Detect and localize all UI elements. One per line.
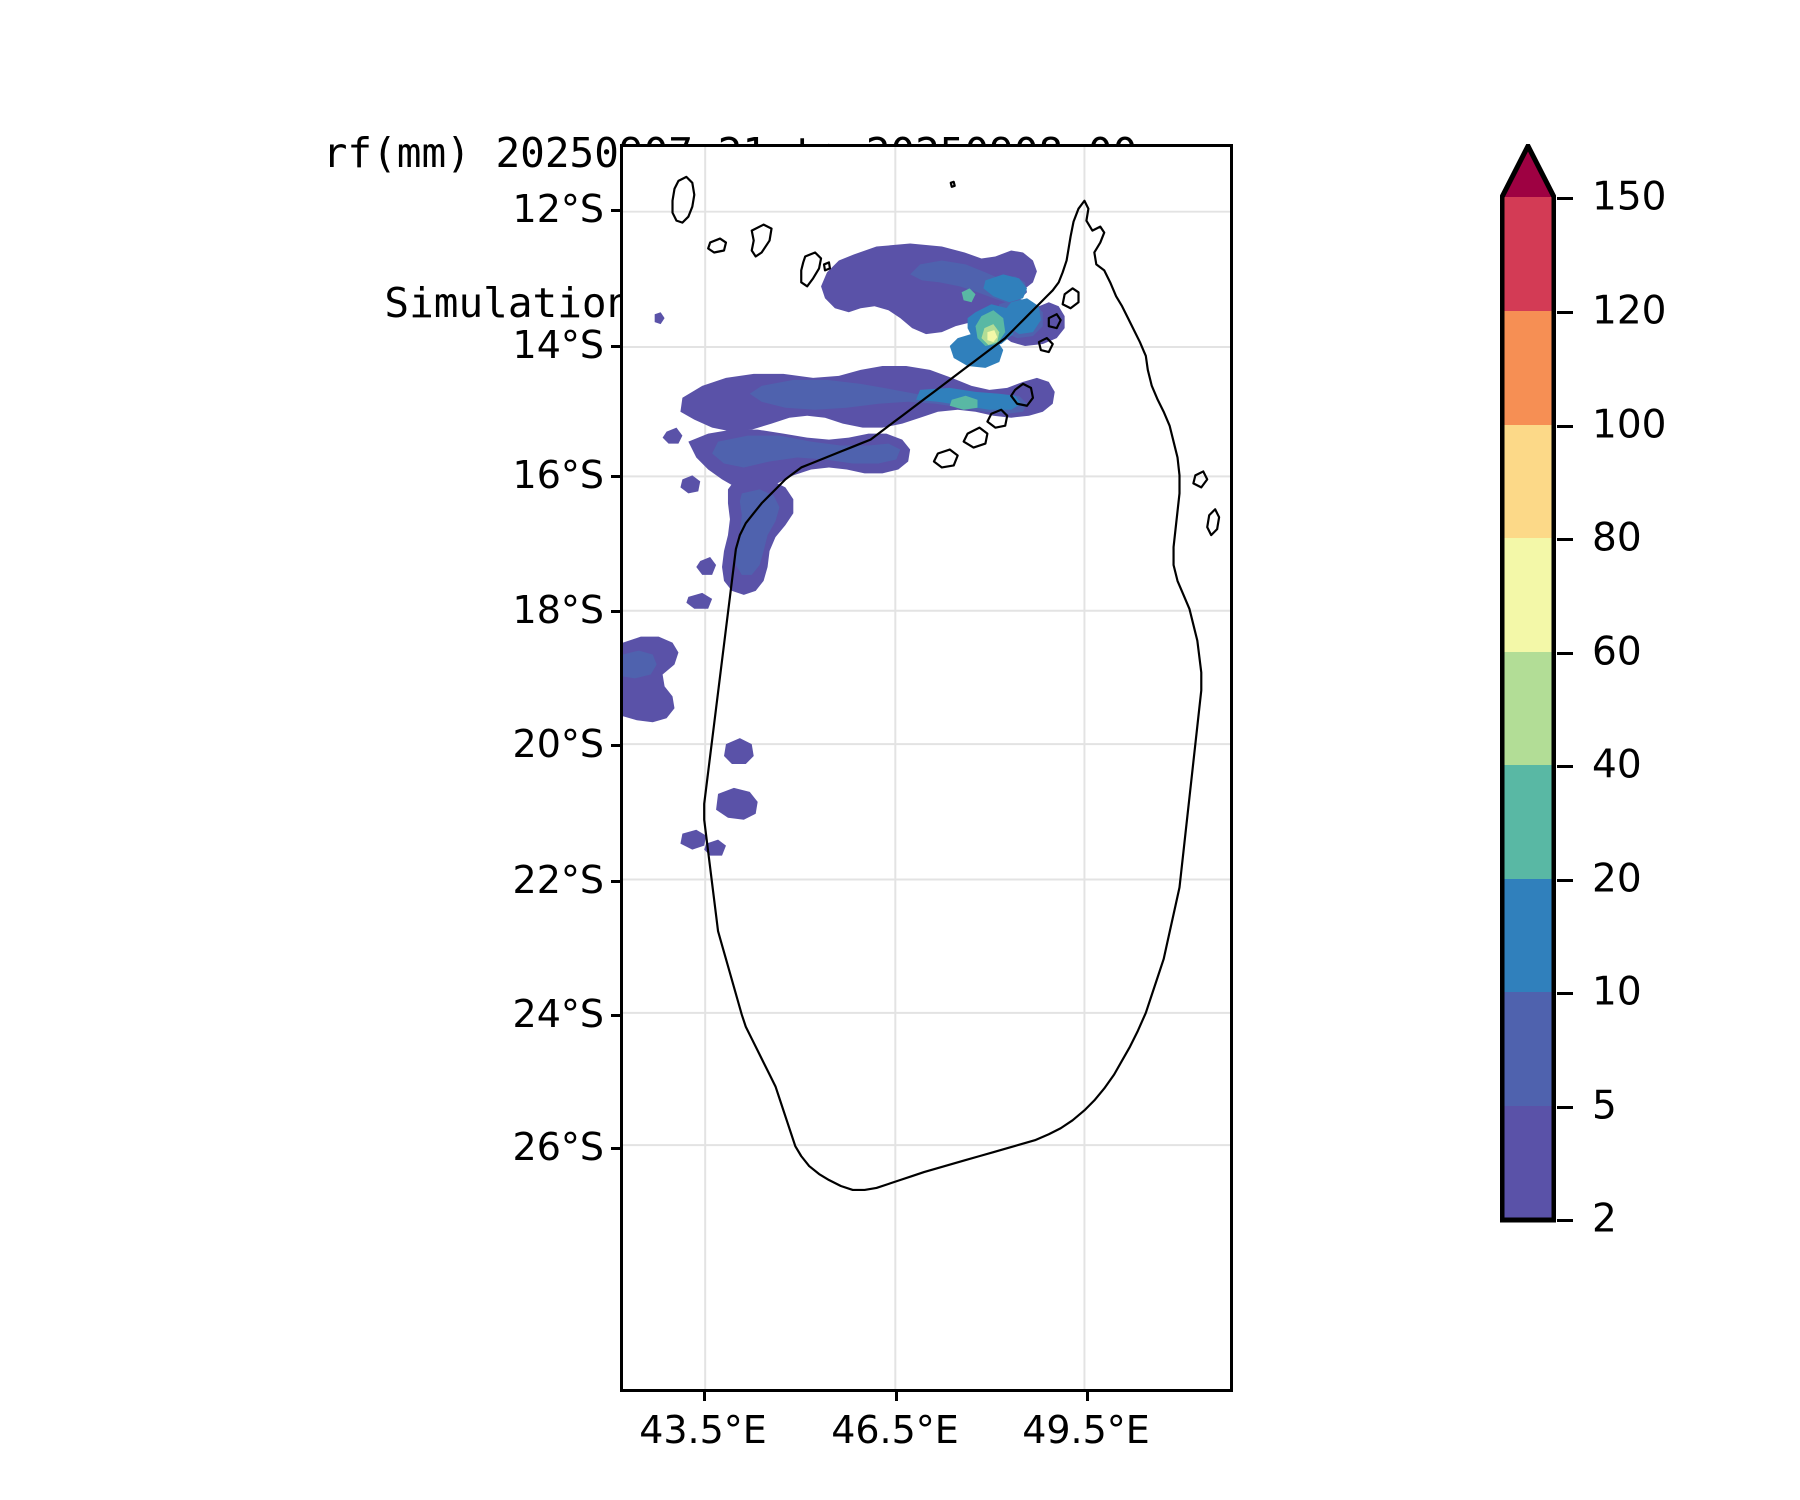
- colorbar-tick-label-10: 10: [1592, 970, 1642, 1015]
- colorbar-tick-mark: [1557, 425, 1573, 428]
- coastline-bay-inlet: [964, 428, 988, 448]
- colorbar-band-10-20: [1502, 879, 1554, 992]
- x-tick-mark: [895, 1392, 898, 1401]
- colorbar-tick-mark: [1557, 311, 1573, 314]
- colorbar-band-20-40: [1502, 765, 1554, 879]
- y-tick-label-14s: 14°S: [513, 323, 604, 367]
- x-tick-label-435e: 43.5°E: [639, 1408, 767, 1452]
- colorbar-tick-label-120: 120: [1592, 289, 1666, 334]
- coastline-east-islet: [1193, 471, 1207, 487]
- y-tick-label-26s: 26°S: [513, 1125, 604, 1169]
- colorbar-tick-label-5: 5: [1592, 1084, 1617, 1129]
- y-tick-mark: [611, 345, 620, 348]
- colorbar-tick-mark: [1557, 197, 1573, 200]
- rainfall-contour-2mm-patch-18s-a: [724, 738, 754, 764]
- colorbar-tick-label-60: 60: [1592, 630, 1642, 675]
- y-tick-mark: [611, 610, 620, 613]
- colorbar-tick-mark: [1557, 1106, 1573, 1109]
- y-tick-label-20s: 20°S: [513, 722, 604, 766]
- y-tick-mark: [611, 475, 620, 478]
- y-tick-label-16s: 16°S: [513, 453, 604, 497]
- colorbar-tick-label-20: 20: [1592, 857, 1642, 902]
- colorbar-canvas: [1500, 144, 1556, 1292]
- coastline-ste-marie: [1207, 509, 1219, 535]
- y-tick-label-22s: 22°S: [513, 858, 604, 902]
- colorbar-extend-arrow-max: [1502, 146, 1554, 197]
- colorbar: [1500, 144, 1556, 1292]
- y-tick-label-24s: 24°S: [513, 992, 604, 1036]
- colorbar-tick-mark: [1557, 765, 1573, 768]
- y-tick-mark: [611, 744, 620, 747]
- colorbar-band-5-10: [1502, 992, 1554, 1106]
- coastline-anjouan: [752, 225, 772, 257]
- colorbar-band-100-120: [1502, 311, 1554, 425]
- y-tick-label-12s: 12°S: [513, 187, 604, 231]
- y-tick-mark: [611, 209, 620, 212]
- rainfall-contour-2mm-westcoast: [623, 637, 678, 723]
- x-tick-mark: [703, 1392, 706, 1401]
- rainfall-contour-2mm-patch-19s: [680, 830, 706, 850]
- coastline-islet-dot: [951, 182, 955, 187]
- colorbar-tick-mark: [1557, 1219, 1573, 1222]
- colorbar-tick-label-40: 40: [1592, 743, 1642, 788]
- colorbar-band-120-150: [1502, 197, 1554, 311]
- figure-canvas: rf(mm) 20250907_21 to 20250908_00 Simula…: [0, 0, 1800, 1500]
- map-plot-area: [620, 144, 1233, 1392]
- coastline-moheli: [708, 239, 726, 253]
- colorbar-tick-label-150: 150: [1592, 175, 1666, 220]
- colorbar-band-60-80: [1502, 538, 1554, 652]
- colorbar-band-80-100: [1502, 425, 1554, 538]
- colorbar-tick-mark: [1557, 992, 1573, 995]
- rainfall-contour-2mm-speck4: [686, 593, 712, 609]
- coastline-nosy-be: [1063, 288, 1079, 308]
- colorbar-tick-mark: [1557, 538, 1573, 541]
- x-tick-mark: [1086, 1392, 1089, 1401]
- rainfall-contour-2mm-speck1: [680, 475, 700, 493]
- colorbar-tick-label-100: 100: [1592, 403, 1666, 448]
- coastline-mayotte-islet: [824, 262, 830, 270]
- map-canvas: [623, 147, 1230, 1389]
- colorbar-tick-label-80: 80: [1592, 516, 1642, 561]
- rainfall-contour-2mm-speck2: [696, 557, 716, 575]
- rainfall-contour-2mm-speck-12s: [655, 312, 665, 324]
- rainfall-contour-2mm-patch-19s-c: [663, 428, 683, 444]
- x-tick-label-465e: 46.5°E: [831, 1408, 959, 1452]
- colorbar-band-2-5: [1502, 1106, 1554, 1220]
- y-tick-mark: [611, 1014, 620, 1017]
- y-tick-label-18s: 18°S: [513, 588, 604, 632]
- x-tick-label-495e: 49.5°E: [1022, 1408, 1150, 1452]
- coastline-grande-comore: [673, 177, 695, 223]
- y-tick-mark: [611, 1147, 620, 1150]
- y-tick-mark: [611, 880, 620, 883]
- colorbar-tick-mark: [1557, 879, 1573, 882]
- rainfall-shading: [623, 244, 1065, 856]
- coastline-mayotte: [801, 252, 821, 286]
- colorbar-band-40-60: [1502, 652, 1554, 765]
- colorbar-tick-mark: [1557, 652, 1573, 655]
- colorbar-tick-label-2: 2: [1592, 1197, 1617, 1242]
- rainfall-contour-2mm-patch-18s-b: [716, 788, 758, 820]
- coastline-west-inlet: [934, 450, 958, 468]
